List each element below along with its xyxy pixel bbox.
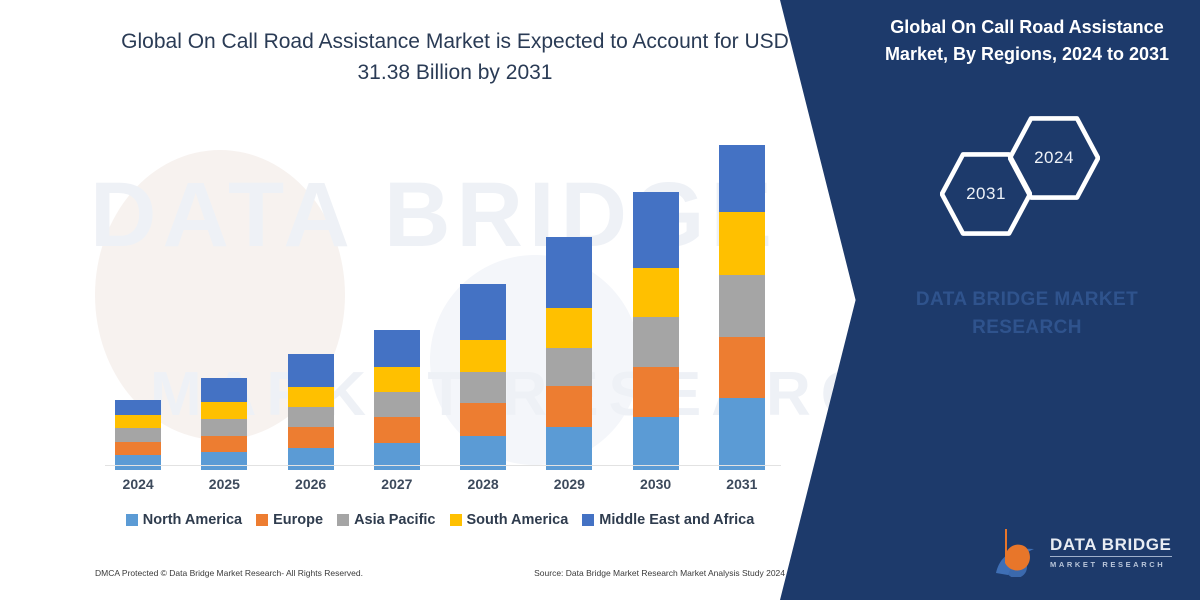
- bar-2031: [719, 145, 765, 470]
- bar-segment-2031-asia-pacific: [719, 275, 765, 338]
- legend-swatch-icon: [256, 514, 268, 526]
- bar-segment-2031-north-america: [719, 398, 765, 470]
- bar-segment-2031-middle-east-and-africa: [719, 145, 765, 212]
- bar-segment-2026-middle-east-and-africa: [288, 354, 334, 387]
- bar-segment-2029-south-america: [546, 308, 592, 348]
- bar-segment-2026-asia-pacific: [288, 407, 334, 427]
- bar-segment-2029-north-america: [546, 427, 592, 470]
- legend-item-middle-east-and-africa: Middle East and Africa: [582, 512, 754, 528]
- x-axis-label-2027: 2027: [374, 476, 420, 498]
- bar-segment-2027-south-america: [374, 367, 420, 392]
- dbmr-logo-mark-icon: [990, 525, 1042, 577]
- bar-2024: [115, 400, 161, 470]
- legend-swatch-icon: [337, 514, 349, 526]
- bar-segment-2029-middle-east-and-africa: [546, 237, 592, 308]
- bar-segment-2030-south-america: [633, 268, 679, 317]
- x-axis-label-2029: 2029: [546, 476, 592, 498]
- bar-segment-2030-middle-east-and-africa: [633, 192, 679, 268]
- bar-segment-2029-europe: [546, 386, 592, 427]
- bar-segment-2031-south-america: [719, 212, 765, 275]
- bar-segment-2030-europe: [633, 367, 679, 417]
- bar-segment-2024-europe: [115, 442, 161, 456]
- legend-item-europe: Europe: [256, 512, 323, 528]
- bar-2030: [633, 192, 679, 470]
- legend-label: Asia Pacific: [354, 512, 435, 528]
- bar-segment-2024-asia-pacific: [115, 428, 161, 442]
- panel-watermark: DATA BRIDGE MARKET RESEARCH: [872, 286, 1182, 342]
- footer: DMCA Protected © Data Bridge Market Rese…: [95, 568, 785, 578]
- x-axis-label-2028: 2028: [460, 476, 506, 498]
- x-axis-labels: 20242025202620272028202920302031: [95, 476, 785, 498]
- legend-label: South America: [467, 512, 569, 528]
- bar-segment-2025-south-america: [201, 402, 247, 419]
- bar-segment-2024-middle-east-and-africa: [115, 400, 161, 415]
- bar-segment-2026-north-america: [288, 448, 334, 470]
- bar-segment-2025-europe: [201, 436, 247, 453]
- infographic-canvas: DATA BRIDGE MARKET RESEARCH Global On Ca…: [0, 0, 1200, 600]
- bar-segment-2024-north-america: [115, 455, 161, 470]
- bar-segment-2025-north-america: [201, 452, 247, 470]
- bar-segment-2028-asia-pacific: [460, 372, 506, 403]
- page-title: Global On Call Road Assistance Market is…: [110, 26, 800, 88]
- legend-label: Europe: [273, 512, 323, 528]
- bar-segment-2029-asia-pacific: [546, 348, 592, 387]
- chart-legend: North AmericaEuropeAsia PacificSouth Ame…: [95, 512, 785, 528]
- bar-segment-2026-south-america: [288, 387, 334, 407]
- bar-segment-2026-europe: [288, 427, 334, 448]
- hexagon-label-2031: 2031: [966, 184, 1006, 204]
- bar-segment-2028-south-america: [460, 340, 506, 371]
- x-axis-label-2026: 2026: [288, 476, 334, 498]
- hexagon-badge-2024: 2024: [1008, 112, 1100, 204]
- bar-segment-2027-europe: [374, 417, 420, 443]
- bar-2025: [201, 378, 247, 470]
- footer-copyright: DMCA Protected © Data Bridge Market Rese…: [95, 568, 363, 578]
- bar-segment-2030-north-america: [633, 417, 679, 470]
- x-axis-label-2030: 2030: [633, 476, 679, 498]
- legend-item-north-america: North America: [126, 512, 242, 528]
- legend-label: Middle East and Africa: [599, 512, 754, 528]
- legend-label: North America: [143, 512, 242, 528]
- stacked-bar-chart: [95, 120, 785, 470]
- chart-plot-area: [95, 120, 785, 470]
- bar-2027: [374, 330, 420, 470]
- logo-divider: [1050, 556, 1172, 557]
- bar-2028: [460, 284, 506, 470]
- bar-segment-2031-europe: [719, 337, 765, 398]
- bar-2026: [288, 354, 334, 470]
- bar-segment-2028-middle-east-and-africa: [460, 284, 506, 340]
- bar-segment-2025-middle-east-and-africa: [201, 378, 247, 402]
- legend-item-asia-pacific: Asia Pacific: [337, 512, 435, 528]
- hexagon-label-2024: 2024: [1034, 148, 1074, 168]
- panel-title: Global On Call Road Assistance Market, B…: [872, 14, 1182, 68]
- x-axis-label-2031: 2031: [719, 476, 765, 498]
- x-axis-line: [105, 465, 781, 466]
- bar-segment-2027-asia-pacific: [374, 392, 420, 417]
- legend-swatch-icon: [126, 514, 138, 526]
- x-axis-label-2025: 2025: [201, 476, 247, 498]
- bar-segment-2024-south-america: [115, 415, 161, 429]
- x-axis-label-2024: 2024: [115, 476, 161, 498]
- bar-segment-2030-asia-pacific: [633, 317, 679, 366]
- logo-line-1: DATA BRIDGE: [1050, 536, 1172, 553]
- legend-swatch-icon: [450, 514, 462, 526]
- bar-2029: [546, 237, 592, 470]
- footer-source: Source: Data Bridge Market Research Mark…: [534, 568, 785, 578]
- bar-segment-2025-asia-pacific: [201, 419, 247, 436]
- legend-swatch-icon: [582, 514, 594, 526]
- legend-item-south-america: South America: [450, 512, 569, 528]
- dbmr-logo: DATA BRIDGE MARKET RESEARCH: [990, 522, 1190, 580]
- dbmr-logo-text: DATA BRIDGE MARKET RESEARCH: [1050, 534, 1172, 569]
- bar-segment-2027-middle-east-and-africa: [374, 330, 420, 367]
- bar-segment-2028-europe: [460, 403, 506, 435]
- logo-line-2: MARKET RESEARCH: [1050, 561, 1172, 569]
